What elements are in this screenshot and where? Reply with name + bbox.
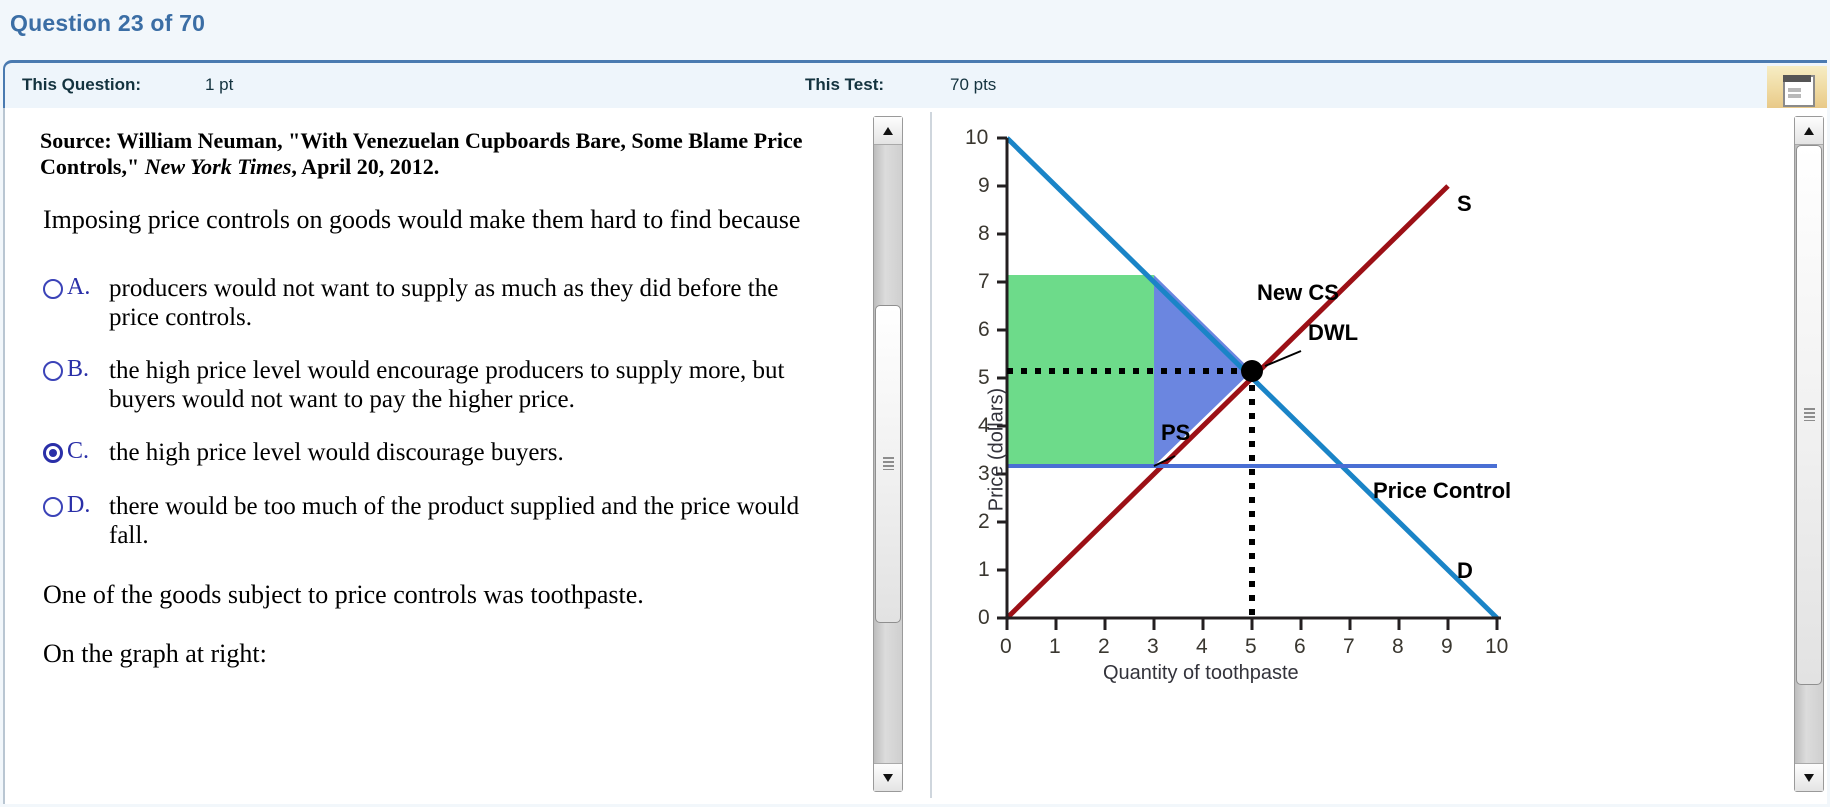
- x-axis-label: Quantity of toothpaste: [1103, 662, 1299, 685]
- annotation-dwl: DWL: [1308, 320, 1358, 346]
- radio-c[interactable]: [43, 443, 63, 463]
- radio-d[interactable]: [43, 497, 63, 517]
- page-title: Question 23 of 70: [10, 10, 205, 37]
- question-info-bar: This Question: 1 pt This Test: 70 pts: [3, 60, 1827, 108]
- radio-a[interactable]: [43, 279, 63, 299]
- x-tick-4: 4: [1196, 635, 1208, 659]
- x-tick-2: 2: [1098, 635, 1110, 659]
- source-citation: Source: William Neuman, "With Venezuelan…: [40, 128, 875, 179]
- this-test-label: This Test:: [805, 75, 884, 95]
- left-pane-scrollbar[interactable]: [873, 116, 903, 792]
- x-tick-1: 1: [1049, 635, 1061, 659]
- grip-icon: [883, 457, 894, 470]
- option-a-text: producers would not want to supply as mu…: [109, 274, 829, 333]
- pane-divider: [930, 112, 932, 798]
- note-icon: [1783, 75, 1815, 107]
- x-tick-9: 9: [1441, 635, 1453, 659]
- option-d-text: there would be too much of the product s…: [109, 492, 829, 551]
- question-stem: Imposing price controls on goods would m…: [43, 204, 833, 235]
- y-axis-label: Price (dollars): [986, 350, 1009, 550]
- question-text-pane: Source: William Neuman, "With Venezuelan…: [5, 108, 905, 802]
- scrollbar-track[interactable]: [874, 145, 902, 763]
- scrollbar-thumb-right[interactable]: [1796, 145, 1822, 685]
- option-b-text: the high price level would encourage pro…: [109, 356, 829, 415]
- tail-text-2: On the graph at right:: [43, 639, 843, 669]
- x-tick-6: 6: [1294, 635, 1306, 659]
- grip-icon: [1804, 408, 1815, 421]
- annotation-supply: S: [1457, 191, 1472, 217]
- this-test-points: 70 pts: [950, 75, 996, 95]
- tail-text-1: One of the goods subject to price contro…: [43, 580, 843, 610]
- option-c-letter: C.: [67, 438, 89, 465]
- annotation-new-cs: New CS: [1257, 280, 1339, 306]
- scroll-down-button[interactable]: [874, 763, 902, 791]
- x-tick-7: 7: [1343, 635, 1355, 659]
- x-tick-10: 10: [1485, 635, 1508, 659]
- scrollbar-track-right[interactable]: [1795, 145, 1823, 763]
- x-tick-0: 0: [1000, 635, 1012, 659]
- triangle-up-icon: [1804, 127, 1814, 135]
- x-axis-ticks: [1007, 618, 1497, 630]
- triangle-down-icon: [883, 774, 893, 782]
- equilibrium-point: [1241, 360, 1263, 382]
- scroll-up-button[interactable]: [874, 117, 902, 145]
- x-tick-3: 3: [1147, 635, 1159, 659]
- y-tick-1: 1: [978, 558, 990, 582]
- page-header: Question 23 of 70: [0, 0, 1830, 58]
- scrollbar-thumb[interactable]: [875, 305, 901, 623]
- y-tick-10: 10: [965, 126, 988, 150]
- x-tick-8: 8: [1392, 635, 1404, 659]
- annotation-demand: D: [1457, 558, 1473, 584]
- y-tick-6: 6: [978, 318, 990, 342]
- y-tick-9: 9: [978, 174, 990, 198]
- question-content: Source: William Neuman, "With Venezuelan…: [3, 108, 1827, 804]
- annotation-price-control: Price Control: [1373, 478, 1511, 504]
- option-b-letter: B.: [67, 356, 89, 383]
- option-a-letter: A.: [67, 274, 90, 301]
- graph-pane: 10 9 8 7 6 5 4 3 2 1 0 0 1 2 3 4 5 6 7 8…: [935, 108, 1795, 802]
- chart-svg: [935, 108, 1795, 802]
- option-c-text: the high price level would discourage bu…: [109, 438, 829, 467]
- note-button[interactable]: [1767, 66, 1827, 111]
- annotation-ps: PS: [1161, 420, 1190, 446]
- y-tick-0: 0: [978, 606, 990, 630]
- this-question-label: This Question:: [22, 75, 141, 95]
- y-tick-7: 7: [978, 270, 990, 294]
- triangle-up-icon: [883, 127, 893, 135]
- scroll-up-button-right[interactable]: [1795, 117, 1823, 145]
- source-italic: New York Times: [145, 154, 292, 179]
- supply-demand-chart: 10 9 8 7 6 5 4 3 2 1 0 0 1 2 3 4 5 6 7 8…: [935, 108, 1795, 802]
- radio-b[interactable]: [43, 361, 63, 381]
- scroll-down-button-right[interactable]: [1795, 763, 1823, 791]
- this-question-points: 1 pt: [205, 75, 233, 95]
- option-d-letter: D.: [67, 492, 90, 519]
- y-tick-8: 8: [978, 222, 990, 246]
- right-pane-scrollbar[interactable]: [1794, 116, 1824, 792]
- triangle-down-icon: [1804, 774, 1814, 782]
- source-suffix: , April 20, 2012.: [291, 154, 439, 179]
- x-tick-5: 5: [1245, 635, 1257, 659]
